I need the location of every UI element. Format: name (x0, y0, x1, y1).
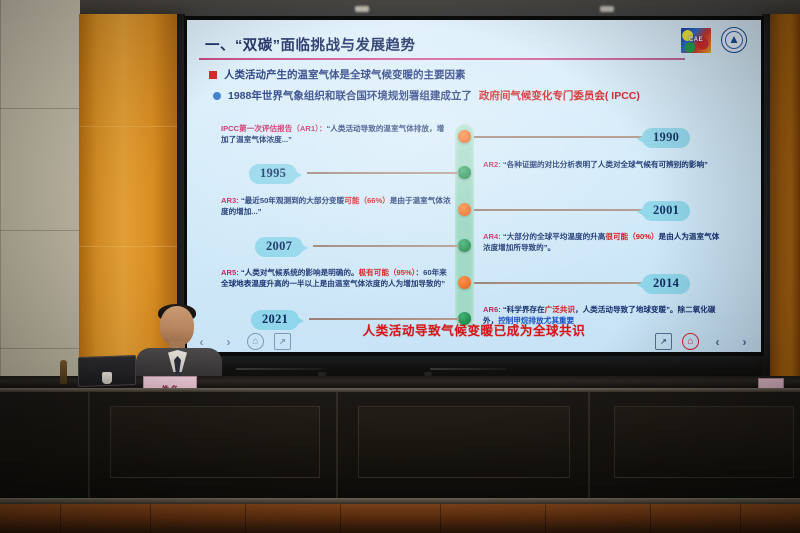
presenter-head (160, 306, 194, 346)
ar1-label: IPCC第一次评估报告（AR1）： (221, 124, 326, 133)
year-bubble-2014: 2014 (642, 274, 690, 294)
connector-1995 (307, 172, 459, 174)
projection-screen: 一、“双碳”面临挑战与发展趋势 人类活动产生的温室气体是全球气候变暖的主要因素 … (187, 20, 761, 352)
ar-text-ar3: AR3: “最近50年观测到的大部分变暖可能（66%）是由于温室气体浓度的增加.… (221, 196, 451, 218)
timeline-dot-2001 (458, 203, 471, 216)
bullet-item-0: 人类活动产生的温室气体是全球气候变暖的主要因素 (209, 67, 466, 82)
left-wall-panels (0, 0, 80, 420)
timeline-dot-2014 (458, 276, 471, 289)
microphone (236, 368, 322, 370)
bullet-text-1-emphasis: 政府间气候变化专门委员会( IPCC) (479, 88, 640, 103)
ar-text-ar5: AR5: “人类对气候系统的影响是明确的。极有可能（95%）：60年来全球地表温… (221, 268, 453, 290)
dot-marker-icon (213, 92, 221, 100)
ar3-body-highlight: 可能（66%） (344, 196, 390, 205)
cae-logo-icon (681, 28, 711, 53)
water-cup (102, 372, 112, 384)
ar2-body: “各种证据的对比分析表明了人类对全球气候有可辨别的影响” (503, 160, 708, 169)
title-divider (199, 58, 685, 60)
microphone-base (318, 372, 326, 376)
connector-1990 (474, 136, 642, 138)
home-icon[interactable]: ⌂ (247, 333, 264, 350)
bullet-text-0: 人类活动产生的温室气体是全球气候变暖的主要因素 (224, 67, 466, 82)
ar6-body-highlight: 广泛共识 (545, 305, 575, 314)
ar4-body-pre: “大部分的全球平均温度的升高 (503, 232, 606, 241)
ar-text-ar2: AR2: “各种证据的对比分析表明了人类对全球气候有可辨别的影响” (483, 160, 718, 171)
right-wood-column (770, 14, 800, 414)
ceiling-light (600, 6, 614, 12)
ar3-body-pre: “最近50年观测到的大部分变暖 (241, 196, 344, 205)
timeline-dot-2007 (458, 239, 471, 252)
viewer-toolbar-right: ↗ ⌂ ‹ › (655, 333, 753, 350)
ar-text-ar4: AR4: “大部分的全球平均温度的升高很可能（90%）是由人为温室气体浓度增加所… (483, 232, 721, 254)
square-marker-icon (209, 71, 217, 79)
connector-2014 (474, 282, 642, 284)
ar6-label: AR6: (483, 305, 501, 314)
microphone-base (424, 372, 432, 376)
ceiling-light (355, 6, 369, 12)
home-icon-active[interactable]: ⌂ (682, 333, 699, 350)
bullet-text-1-pre: 1988年世界气象组织和联合国环境规划署组建成立了 (228, 88, 472, 103)
ar5-body-pre: “人类对气候系统的影响是明确的。 (241, 268, 359, 277)
ar5-label: AR5: (221, 268, 239, 277)
timeline-dot-1995 (458, 166, 471, 179)
academy-seal-logo-icon (721, 27, 747, 53)
ar6-body-pre: “科学界存在 (503, 305, 545, 314)
ar4-label: AR4: (483, 232, 501, 241)
ar5-body-highlight: 极有可能（95%） (359, 268, 416, 277)
timeline-dot-1990 (458, 130, 471, 143)
year-bubble-2007: 2007 (255, 237, 303, 257)
bottle (60, 360, 67, 384)
year-bubble-1995: 1995 (249, 164, 297, 184)
timeline-bar (455, 124, 474, 328)
ar4-body-highlight: 很可能（90%） (605, 232, 658, 241)
next-page-icon[interactable]: › (736, 333, 753, 350)
prev-page-icon[interactable]: ‹ (709, 333, 726, 350)
share-icon[interactable]: ↗ (274, 333, 291, 350)
wood-floor (0, 504, 800, 533)
connector-2001 (474, 209, 642, 211)
lecture-hall-scene: 一、“双碳”面临挑战与发展趋势 人类活动产生的温室气体是全球气候变暖的主要因素 … (0, 0, 800, 533)
connector-2007 (313, 245, 459, 247)
ar3-label: AR3: (221, 196, 239, 205)
ar2-label: AR2: (483, 160, 501, 169)
logo-group (681, 27, 747, 53)
desk-front-panels (0, 392, 800, 502)
slide-title: 一、“双碳”面临挑战与发展趋势 (205, 34, 416, 55)
share-icon[interactable]: ↗ (655, 333, 672, 350)
bullet-item-1: 1988年世界气象组织和联合国环境规划署组建成立了 政府间气候变化专门委员会( … (213, 88, 640, 103)
ar-text-ar1: IPCC第一次评估报告（AR1）：“人类活动导致的温室气体排放，增加了温室气体浓… (221, 124, 449, 146)
year-bubble-1990: 1990 (642, 128, 690, 148)
year-bubble-2001: 2001 (642, 201, 690, 221)
microphone (430, 368, 506, 370)
